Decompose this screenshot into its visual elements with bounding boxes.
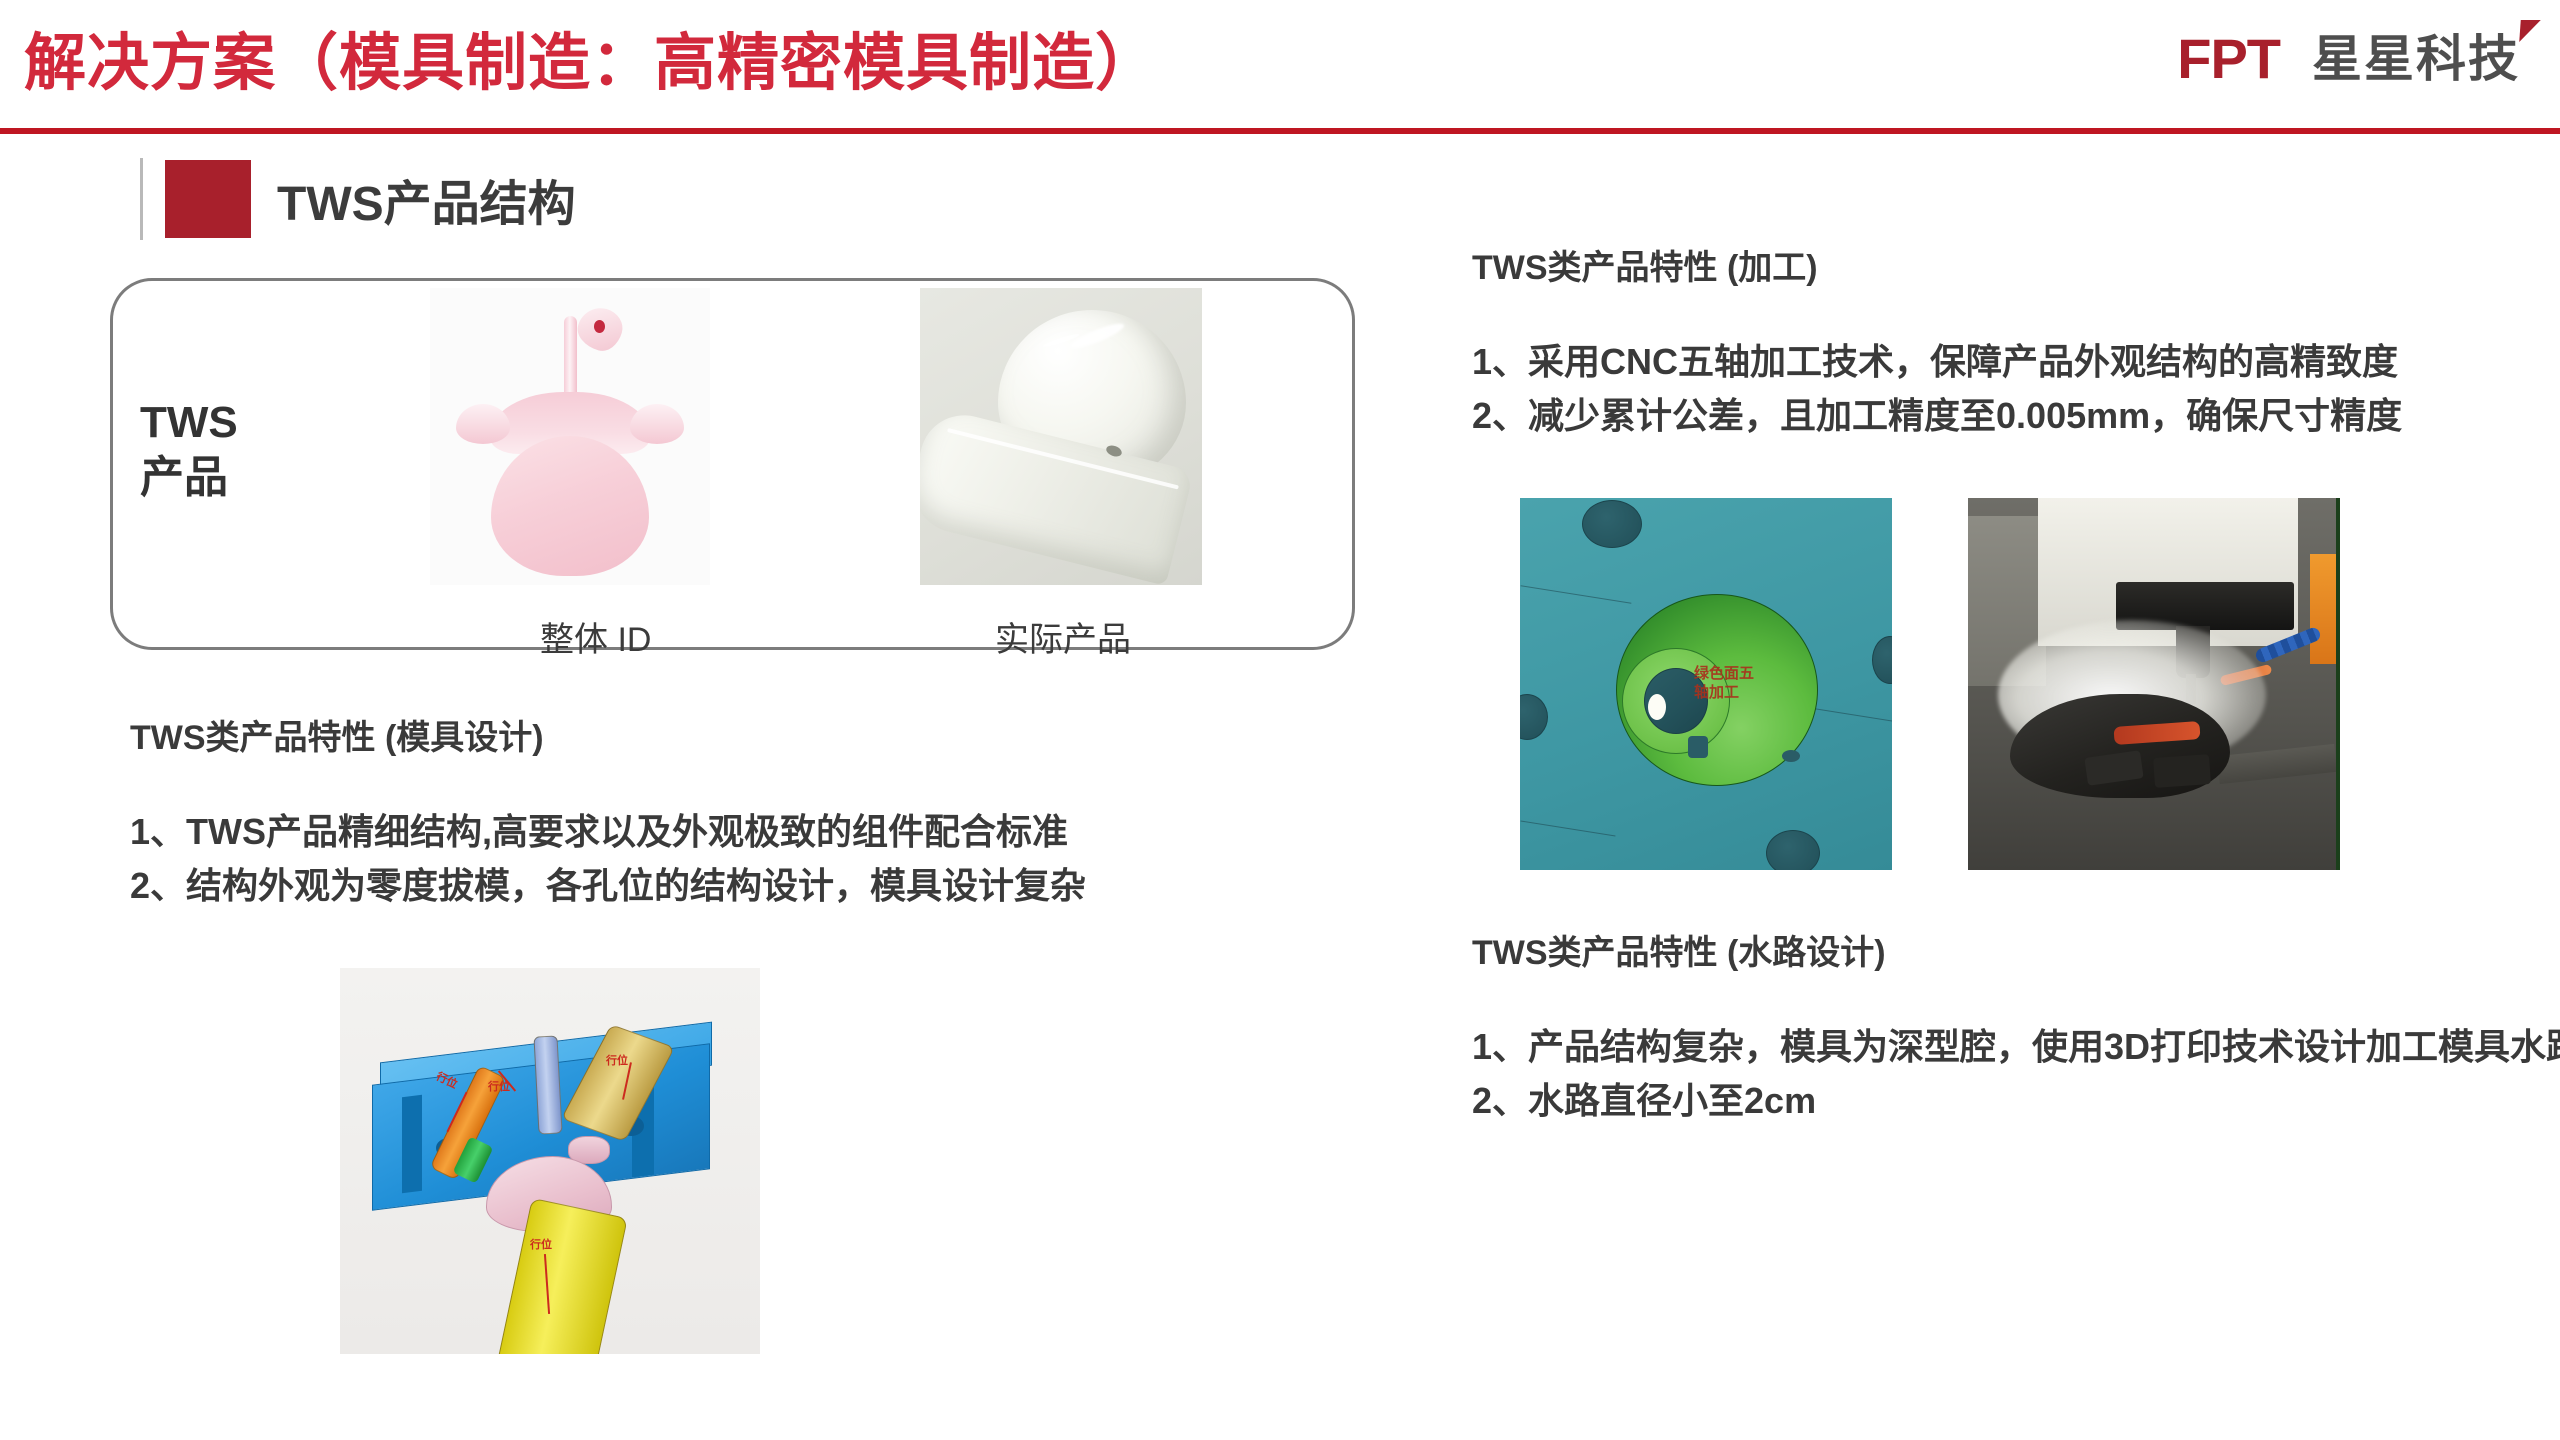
earbud-case-body-shape <box>491 436 649 576</box>
logo-flag-icon <box>2519 20 2541 42</box>
real-product-photo <box>920 288 1202 585</box>
earbud-cavity-right <box>630 404 684 444</box>
cad-bolt-hole-3 <box>1520 694 1548 740</box>
waterway-item-1: 1、产品结构复杂，模具为深型腔，使用3D打印技术设计加工模具水路 <box>1472 1020 2560 1074</box>
cad-bolt-hole-1 <box>1582 500 1642 548</box>
text-block-machining: TWS类产品特性 (加工) 1、采用CNC五轴加工技术，保障产品外观结构的高精致… <box>1472 240 2402 443</box>
cnc-machining-photo <box>1968 498 2340 870</box>
text-block-mold-design: TWS类产品特性 (模具设计) 1、TWS产品精细结构,高要求以及外观极致的组件… <box>130 710 1086 913</box>
page-title: 解决方案（模具制造：高精密模具制造） <box>24 12 1158 102</box>
cad-edge-line-3 <box>1521 820 1616 836</box>
earbuds-id-render-image <box>430 288 710 585</box>
cad-feature-nub <box>1688 736 1708 758</box>
mold-cad-diagram-image: 行位 行位 行位 行位 <box>340 968 760 1354</box>
section-title: TWS产品结构 <box>277 164 576 234</box>
cad-annotation-text: 绿色面五 轴加工 <box>1694 664 1754 702</box>
text-block-waterway: TWS类产品特性 (水路设计) 1、产品结构复杂，模具为深型腔，使用3D打印技术… <box>1472 925 2560 1128</box>
cad-feature-nub-2 <box>1782 750 1800 762</box>
slide-root: 解决方案（模具制造：高精密模具制造） FPT 星星科技 TWS产品结构 TWS … <box>0 0 2560 1440</box>
logo-chinese-text: 星星科技 <box>2312 34 2520 84</box>
caption-real-product: 实际产品 <box>995 612 1131 661</box>
earbud-accent-dot <box>594 320 605 333</box>
mold-annotation-2: 行位 <box>488 1078 510 1094</box>
mold-design-item-2: 2、结构外观为零度拔模，各孔位的结构设计，模具设计复杂 <box>130 859 1086 913</box>
logo-fpt-text: FPT <box>2177 31 2280 87</box>
machining-item-1: 1、采用CNC五轴加工技术，保障产品外观结构的高精致度 <box>1472 335 2402 389</box>
cad-edge-line-1 <box>1521 585 1632 604</box>
header-divider <box>0 128 2560 134</box>
cnc-photo-edge-border <box>2336 498 2340 870</box>
cad-bore-highlight <box>1648 694 1666 720</box>
mold-annotation-3: 行位 <box>606 1052 628 1068</box>
mold-slide-blue <box>533 1035 562 1134</box>
section-accent-bar <box>140 158 143 240</box>
section-square-icon <box>165 160 251 238</box>
mold-slot-left <box>402 1095 422 1193</box>
card-label-line2: 产品 <box>140 450 238 505</box>
mold-annotation-4: 行位 <box>530 1236 552 1252</box>
waterway-heading: TWS类产品特性 (水路设计) <box>1472 925 2560 974</box>
mold-design-item-1: 1、TWS产品精细结构,高要求以及外观极致的组件配合标准 <box>130 805 1086 859</box>
card-label-line1: TWS <box>140 395 238 450</box>
mold-design-heading: TWS类产品特性 (模具设计) <box>130 710 1086 759</box>
company-logo: FPT 星星科技 <box>2177 26 2520 92</box>
earbud-cavity-left <box>456 404 510 444</box>
cnc-machine-rail <box>2217 744 2337 784</box>
card-product-label: TWS 产品 <box>140 395 238 505</box>
cad-bolt-hole-2 <box>1766 830 1820 870</box>
machining-item-2: 2、减少累计公差，且加工精度至0.005mm，确保尺寸精度 <box>1472 389 2402 443</box>
caption-overall-id: 整体 ID <box>540 612 651 661</box>
cnc-workpiece-detail-2 <box>2153 754 2211 788</box>
cad-bolt-hole-4 <box>1872 636 1892 684</box>
cad-annotation-line2: 轴加工 <box>1694 683 1754 702</box>
cad-five-axis-image: 绿色面五 轴加工 <box>1520 498 1892 870</box>
cad-annotation-line1: 绿色面五 <box>1694 664 1754 683</box>
machining-heading: TWS类产品特性 (加工) <box>1472 240 2402 289</box>
section-heading: TWS产品结构 <box>140 158 576 240</box>
waterway-item-2: 2、水路直径小至2cm <box>1472 1074 2560 1128</box>
